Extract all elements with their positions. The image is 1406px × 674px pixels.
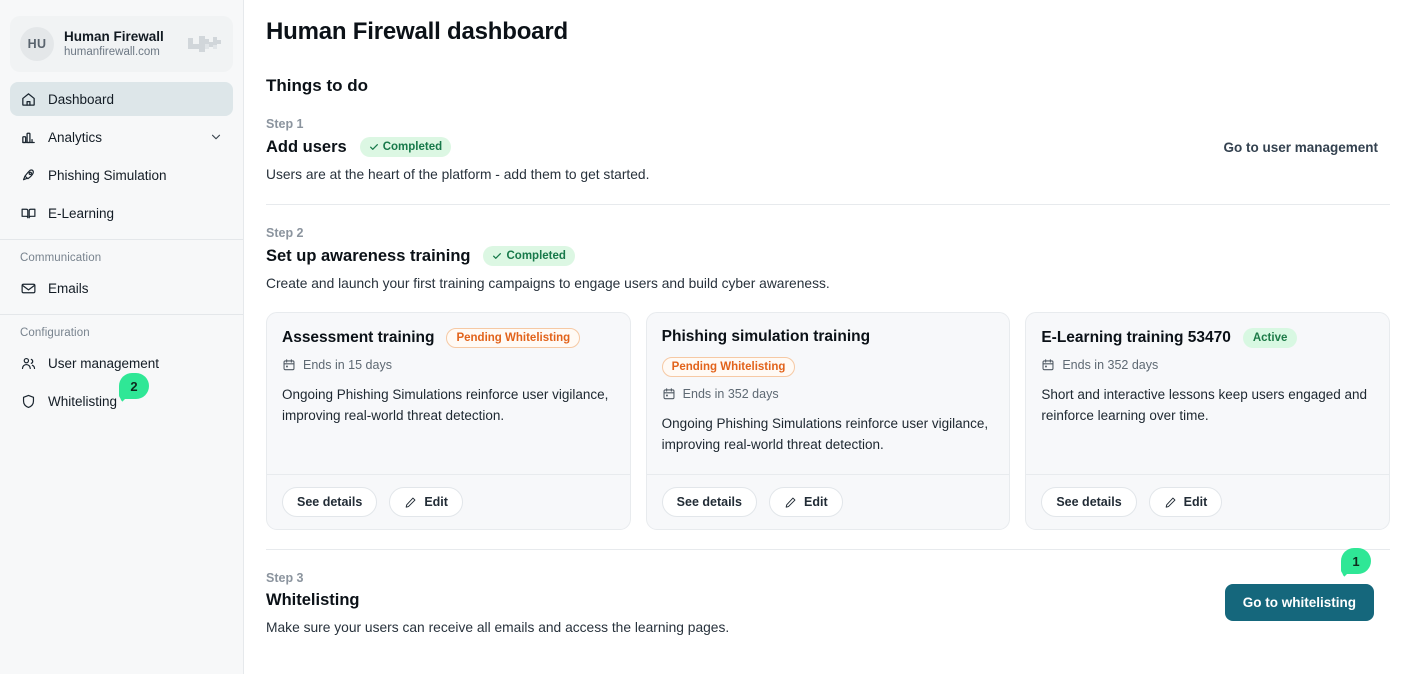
card-body: Phishing simulation training Pending Whi… xyxy=(647,313,1010,474)
whitelisting-cta-count-badge: 1 xyxy=(1341,548,1371,574)
card-desc: Ongoing Phishing Simulations reinforce u… xyxy=(662,413,995,455)
status-badge: Active xyxy=(1243,328,1298,348)
sidebar-item-label: Emails xyxy=(48,281,223,296)
sidebar-item-label: Phishing Simulation xyxy=(48,168,223,183)
card-meta-label: Ends in 352 days xyxy=(683,387,779,401)
edit-button-label: Edit xyxy=(424,495,448,509)
see-details-button[interactable]: See details xyxy=(1041,487,1136,517)
users-icon xyxy=(20,355,37,372)
card-head: Assessment training Pending Whitelisting xyxy=(282,328,615,348)
edit-button[interactable]: Edit xyxy=(389,487,463,517)
go-to-user-management-link[interactable]: Go to user management xyxy=(1223,140,1390,155)
sidebar-nav: Dashboard Analytics xyxy=(0,82,243,230)
home-icon xyxy=(20,91,37,108)
edit-button[interactable]: Edit xyxy=(769,487,843,517)
sidebar: HU Human Firewall humanfirewall.com xyxy=(0,0,244,674)
sidebar-section-communication: Communication xyxy=(0,240,243,271)
page-title: Human Firewall dashboard xyxy=(266,18,1390,46)
card-title: Assessment training xyxy=(282,329,434,347)
sidebar-item-e-learning[interactable]: E-Learning xyxy=(10,196,233,230)
edit-button[interactable]: Edit xyxy=(1149,487,1223,517)
card-meta-label: Ends in 352 days xyxy=(1062,358,1158,372)
calendar-icon xyxy=(282,358,296,372)
card-footer: See details Edit xyxy=(647,474,1010,529)
card-head: Phishing simulation training xyxy=(662,328,995,346)
card-meta: Ends in 15 days xyxy=(282,358,615,372)
main-content: Human Firewall dashboard Things to do St… xyxy=(244,0,1406,674)
step-3-desc: Make sure your users can receive all ema… xyxy=(266,618,729,638)
org-domain: humanfirewall.com xyxy=(64,45,177,60)
sidebar-item-phishing-simulation[interactable]: Phishing Simulation xyxy=(10,158,233,192)
pencil-icon xyxy=(784,496,797,509)
card-head: E-Learning training 53470 Active xyxy=(1041,328,1374,348)
card-title: Phishing simulation training xyxy=(662,328,870,346)
check-icon xyxy=(492,251,502,261)
step-2-name: Set up awareness training xyxy=(266,247,470,266)
status-badge: Completed xyxy=(483,246,574,266)
sidebar-section-configuration: Configuration xyxy=(0,315,243,346)
card-assessment-training[interactable]: Assessment training Pending Whitelisting… xyxy=(266,312,631,530)
see-details-button[interactable]: See details xyxy=(282,487,377,517)
whitelisting-count-badge: 2 xyxy=(119,373,149,399)
section-title-things-to-do: Things to do xyxy=(266,76,1390,96)
calendar-icon xyxy=(1041,358,1055,372)
step-3-row: Step 3 Whitelisting Make sure your users… xyxy=(266,570,1390,638)
step-3-text: Step 3 Whitelisting Make sure your users… xyxy=(266,570,729,638)
step-2: Step 2 Set up awareness training Complet… xyxy=(266,205,1390,550)
card-meta-label: Ends in 15 days xyxy=(303,358,392,372)
sidebar-nav-communication: Emails xyxy=(0,271,243,305)
card-badge-row: Pending Whitelisting xyxy=(662,357,995,377)
status-badge: Completed xyxy=(360,137,451,157)
sidebar-item-label: Dashboard xyxy=(48,92,223,107)
step-3: Step 3 Whitelisting Make sure your users… xyxy=(266,550,1390,638)
step-1-head: Add users Completed xyxy=(266,137,649,157)
card-body: Assessment training Pending Whitelisting… xyxy=(267,313,630,474)
check-icon xyxy=(369,142,379,152)
see-details-button[interactable]: See details xyxy=(662,487,757,517)
step-1-row: Step 1 Add users Completed Users are at … xyxy=(266,116,1390,185)
pencil-icon xyxy=(1164,496,1177,509)
app-root: HU Human Firewall humanfirewall.com xyxy=(0,0,1406,674)
card-title: E-Learning training 53470 xyxy=(1041,329,1231,347)
sidebar-item-dashboard[interactable]: Dashboard xyxy=(10,82,233,116)
sidebar-item-user-management[interactable]: User management xyxy=(10,346,233,380)
status-badge: Pending Whitelisting xyxy=(446,328,580,348)
org-card[interactable]: HU Human Firewall humanfirewall.com xyxy=(10,16,233,72)
step-1-label: Step 1 xyxy=(266,116,649,132)
card-desc: Short and interactive lessons keep users… xyxy=(1041,384,1374,426)
step-3-name: Whitelisting xyxy=(266,591,360,610)
sidebar-item-label: Analytics xyxy=(48,130,198,145)
sidebar-item-label: User management xyxy=(48,356,223,371)
step-1-text: Step 1 Add users Completed Users are at … xyxy=(266,116,649,185)
org-name: Human Firewall xyxy=(64,29,177,45)
rocket-icon xyxy=(20,167,37,184)
org-text: Human Firewall humanfirewall.com xyxy=(64,29,177,60)
shield-icon xyxy=(20,393,37,410)
card-e-learning-training[interactable]: E-Learning training 53470 Active Ends in… xyxy=(1025,312,1390,530)
pencil-icon xyxy=(404,496,417,509)
step-3-head: Whitelisting xyxy=(266,591,729,610)
card-body: E-Learning training 53470 Active Ends in… xyxy=(1026,313,1389,474)
step-1: Step 1 Add users Completed Users are at … xyxy=(266,96,1390,205)
status-badge-label: Completed xyxy=(506,249,565,263)
status-badge: Pending Whitelisting xyxy=(662,357,796,377)
card-footer: See details Edit xyxy=(1026,474,1389,529)
edit-button-label: Edit xyxy=(1184,495,1208,509)
sidebar-item-analytics[interactable]: Analytics xyxy=(10,120,233,154)
card-meta: Ends in 352 days xyxy=(1041,358,1374,372)
mail-icon xyxy=(20,280,37,297)
pixel-logo-icon xyxy=(187,33,223,55)
chevron-down-icon[interactable] xyxy=(209,130,223,144)
book-open-icon xyxy=(20,205,37,222)
calendar-icon xyxy=(662,387,676,401)
bar-chart-icon xyxy=(20,129,37,146)
card-desc: Ongoing Phishing Simulations reinforce u… xyxy=(282,384,615,426)
step-1-name: Add users xyxy=(266,138,347,157)
card-meta: Ends in 352 days xyxy=(662,387,995,401)
card-phishing-simulation-training[interactable]: Phishing simulation training Pending Whi… xyxy=(646,312,1011,530)
go-to-whitelisting-button[interactable]: Go to whitelisting xyxy=(1225,584,1374,621)
step-3-label: Step 3 xyxy=(266,570,729,586)
sidebar-item-emails[interactable]: Emails xyxy=(10,271,233,305)
sidebar-item-label: E-Learning xyxy=(48,206,223,221)
training-cards: Assessment training Pending Whitelisting… xyxy=(266,312,1390,530)
edit-button-label: Edit xyxy=(804,495,828,509)
cta-wrap: 1 Go to whitelisting xyxy=(1225,584,1390,621)
avatar: HU xyxy=(20,27,54,61)
step-2-head: Set up awareness training Completed xyxy=(266,246,1390,266)
status-badge-label: Completed xyxy=(383,140,442,154)
step-2-desc: Create and launch your first training ca… xyxy=(266,274,986,294)
step-1-desc: Users are at the heart of the platform -… xyxy=(266,165,649,185)
step-2-label: Step 2 xyxy=(266,225,1390,241)
card-footer: See details Edit xyxy=(267,474,630,529)
